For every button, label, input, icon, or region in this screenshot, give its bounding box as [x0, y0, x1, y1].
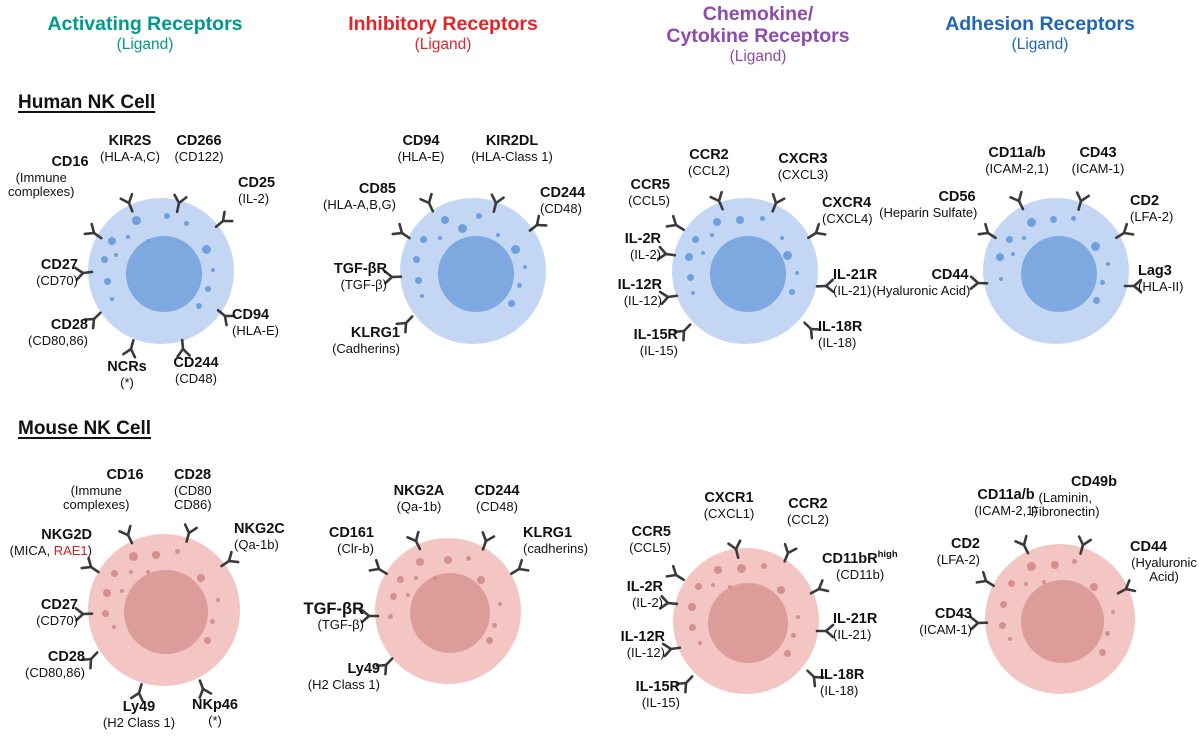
granule	[175, 549, 180, 554]
granule	[1106, 262, 1110, 266]
receptor-label-cd16-mouse: CD16 (Immune complexes)	[96, 468, 154, 513]
receptor-label-lag3: Lag3 (HLA-II)	[1138, 264, 1184, 294]
receptor-label-cd28: CD28 (CD80,86)	[28, 318, 88, 348]
receptor-label-kir2s: KIR2S (HLA-A,C)	[100, 134, 160, 164]
granule	[205, 286, 211, 292]
granule	[1105, 631, 1110, 636]
receptor-label-cd244-mouse: CD244 (CD48)	[474, 484, 519, 514]
receptor-label-cd27-mouse: CD27 (CD70)	[36, 598, 78, 628]
granule	[164, 213, 170, 219]
cell-human-adhesion	[983, 198, 1129, 344]
granule	[216, 598, 220, 602]
receptor-label-cxcr3: CXCR3 (CXCL3)	[778, 152, 829, 182]
granule	[1093, 297, 1100, 304]
granule	[701, 251, 705, 255]
receptor-label-cd56: CD56 (Heparin Sulfate)	[928, 190, 986, 220]
granule	[780, 236, 784, 240]
receptor-label-il-18r: IL-18R (IL-18)	[818, 320, 862, 350]
receptor-label-cd16: CD16 (Immune complexes)	[41, 155, 99, 200]
granule	[999, 277, 1003, 281]
column-header-inhibitory: Inhibitory Receptors (Ligand)	[318, 14, 568, 53]
receptor-label-nkg2c: NKG2C (Qa-1b)	[234, 522, 285, 552]
granule	[695, 583, 702, 590]
column-title-line2: Cytokine Receptors	[628, 26, 888, 48]
granule	[466, 556, 471, 561]
cell-mouse-adhesion	[985, 544, 1135, 694]
granule	[1072, 559, 1077, 564]
receptor-label-il-18r-mouse: IL-18R (IL-18)	[820, 668, 864, 698]
nucleus	[438, 236, 514, 312]
receptor-name-with-superscript: CD11bRhigh	[822, 550, 898, 568]
column-ligand-note: (Ligand)	[20, 36, 270, 53]
granule	[204, 637, 211, 644]
receptor-label-kir2dl: KIR2DL (HLA-Class 1)	[471, 134, 553, 164]
nucleus	[410, 573, 490, 653]
granule	[210, 619, 215, 624]
granule	[1042, 580, 1046, 584]
granule	[689, 624, 696, 631]
receptor-label-cd44: CD44 (Hyaluronic Acid)	[921, 268, 979, 298]
receptor-label-cxcr1: CXCR1 (CXCL1)	[704, 491, 755, 521]
granule	[1008, 580, 1015, 587]
granule	[120, 589, 124, 593]
granule	[714, 566, 722, 574]
granule	[1024, 582, 1028, 586]
granule	[687, 274, 694, 281]
granule	[1051, 561, 1059, 569]
granule	[1071, 216, 1076, 221]
granule	[152, 551, 160, 559]
granule	[397, 576, 404, 583]
receptor-label-klrg1: KLRG1 (Cadherins)	[332, 326, 400, 356]
receptor-label-ncrs: NCRs (*)	[107, 360, 146, 390]
granule	[476, 213, 482, 219]
granule	[1111, 610, 1115, 614]
receptor-label-il-15r-mouse: IL-15R (IL-15)	[636, 680, 680, 710]
receptor-icon-cd266	[166, 190, 192, 216]
granule	[1027, 562, 1036, 571]
receptor-label-ccr5: CCR5 (CCL5)	[628, 178, 670, 208]
granule	[211, 268, 215, 272]
granule	[102, 610, 109, 617]
receptor-label-cd244-inh: CD244 (CD48)	[540, 186, 585, 216]
receptor-label-il-12r-mouse: IL-12R (IL-12)	[621, 630, 665, 660]
column-ligand-note: (Ligand)	[915, 36, 1165, 53]
receptor-label-tgf-beta-r: TGF-βR (TGF-β)	[334, 262, 387, 292]
receptor-label-il-15r: IL-15R (IL-15)	[634, 328, 678, 358]
granule	[791, 633, 796, 638]
granule	[438, 236, 442, 240]
granule	[1090, 583, 1098, 591]
receptor-label-cd244: CD244 (CD48)	[173, 356, 218, 386]
receptor-label-ly49-act: Ly49 (H2 Class 1)	[103, 700, 175, 730]
ligand-with-highlight: (MICA, RAE1)	[10, 544, 92, 558]
cell-human-chemokine	[672, 198, 818, 344]
granule	[132, 216, 141, 225]
column-title-line1: Chemokine/	[628, 4, 888, 26]
receptor-label-ly49-inh: Ly49 (H2 Class 1)	[308, 662, 380, 692]
receptor-label-cd2-mouse: CD2 (LFA-2)	[937, 537, 980, 567]
receptor-label-cd43: CD43 (ICAM-1)	[1072, 146, 1125, 176]
granule	[1100, 280, 1105, 285]
nucleus	[1021, 236, 1097, 312]
row-heading-mouse: Mouse NK Cell	[18, 418, 151, 440]
receptor-label-cd94: CD94 (HLA-E)	[232, 308, 279, 338]
receptor-label-cd28-mouse-bottom: CD28 (CD80,86)	[25, 650, 85, 680]
granule	[795, 271, 799, 275]
granule	[1008, 637, 1012, 641]
granule	[1099, 649, 1106, 656]
granule	[999, 622, 1006, 629]
granule	[523, 265, 527, 269]
cell-mouse-chemokine	[673, 548, 819, 694]
column-header-adhesion: Adhesion Receptors (Ligand)	[915, 14, 1165, 53]
nucleus	[710, 236, 786, 312]
receptor-label-cd85: CD85 (HLA-A,B,G)	[323, 182, 396, 212]
receptor-label-cd27: CD27 (CD70)	[36, 258, 78, 288]
receptor-label-nkg2d: NKG2D (MICA, RAE1)	[10, 528, 92, 558]
granule	[202, 245, 211, 254]
granule	[517, 283, 522, 288]
granule	[710, 233, 714, 237]
granule	[1091, 242, 1100, 251]
diagram-canvas: Activating Receptors (Ligand) Inhibitory…	[0, 0, 1200, 740]
receptor-label-cd25: CD25 (IL-2)	[238, 176, 275, 206]
receptor-label-cd28-mouse-top: CD28 (CD80 CD86)	[174, 468, 236, 513]
receptor-label-il-2r: IL-2R (IL-2)	[625, 232, 661, 262]
granule	[796, 615, 800, 619]
granule	[103, 589, 111, 597]
granule	[1050, 216, 1057, 223]
receptor-label-cxcr4: CXCR4 (CXCL4)	[822, 196, 873, 226]
granule	[736, 216, 744, 224]
granule	[760, 216, 765, 221]
receptor-label-cd266: CD266 (CD122)	[174, 134, 223, 164]
granule	[1011, 252, 1015, 256]
receptor-label-cd44-mouse: CD44 (Hyaluronic Acid)	[1130, 540, 1198, 585]
receptor-label-tgf-beta-r-mouse: TGF-βR (TGF-β)	[304, 600, 364, 632]
granule	[444, 556, 452, 564]
receptor-label-ccr5-mouse: CCR5 (CCL5)	[629, 525, 671, 555]
receptor-label-ccr2: CCR2 (CCL2)	[688, 148, 730, 178]
receptor-label-cd2: CD2 (LFA-2)	[1130, 194, 1173, 224]
receptor-label-cd11ab: CD11a/b (ICAM-2,1)	[985, 146, 1049, 176]
granule	[777, 586, 785, 594]
granule	[783, 251, 792, 260]
granule	[711, 583, 715, 587]
granule	[415, 277, 422, 284]
column-ligand-note: (Ligand)	[318, 36, 568, 53]
granule	[126, 235, 130, 239]
column-header-activating: Activating Receptors (Ligand)	[20, 14, 270, 53]
receptor-label-cd94-inh: CD94 (HLA-E)	[398, 134, 445, 164]
granule	[1000, 601, 1007, 608]
column-title: Activating Receptors	[20, 14, 270, 36]
column-title: Adhesion Receptors	[915, 14, 1165, 36]
receptor-label-cd43-mouse: CD43 (ICAM-1)	[919, 607, 972, 637]
granule	[789, 289, 795, 295]
receptor-label-cd11br-high: CD11bRhigh (CD11b)	[822, 550, 898, 582]
receptor-label-nkp46: NKp46 (*)	[192, 698, 238, 728]
granule	[441, 216, 449, 224]
nucleus	[126, 236, 202, 312]
receptor-label-cd161: CD161 (Clr-b)	[329, 526, 374, 556]
receptor-label-il-12r: IL-12R (IL-12)	[618, 278, 662, 308]
row-heading-human: Human NK Cell	[18, 92, 155, 114]
nucleus	[1021, 580, 1104, 663]
receptor-label-il-21r-mouse: IL-21R (IL-21)	[833, 612, 877, 642]
receptor-label-nkg2a: NKG2A (Qa-1b)	[394, 484, 445, 514]
column-ligand-note: (Ligand)	[628, 48, 888, 65]
column-title: Inhibitory Receptors	[318, 14, 568, 36]
receptor-label-klrg1-mouse: KLRG1 (cadherins)	[523, 526, 588, 556]
granule	[498, 602, 502, 606]
receptor-label-cd49b: CD49b (Laminin, Fibronectin)	[1065, 475, 1123, 520]
receptor-label-ccr2-mouse: CCR2 (CCL2)	[787, 497, 829, 527]
nucleus	[124, 570, 208, 654]
nucleus	[708, 583, 788, 663]
granule	[492, 623, 497, 628]
granule	[511, 245, 520, 254]
column-header-chemokine: Chemokine/ Cytokine Receptors (Ligand)	[628, 4, 888, 65]
granule	[761, 563, 767, 569]
receptor-label-il-2r-mouse: IL-2R (IL-2)	[627, 580, 663, 610]
granule	[197, 574, 205, 582]
